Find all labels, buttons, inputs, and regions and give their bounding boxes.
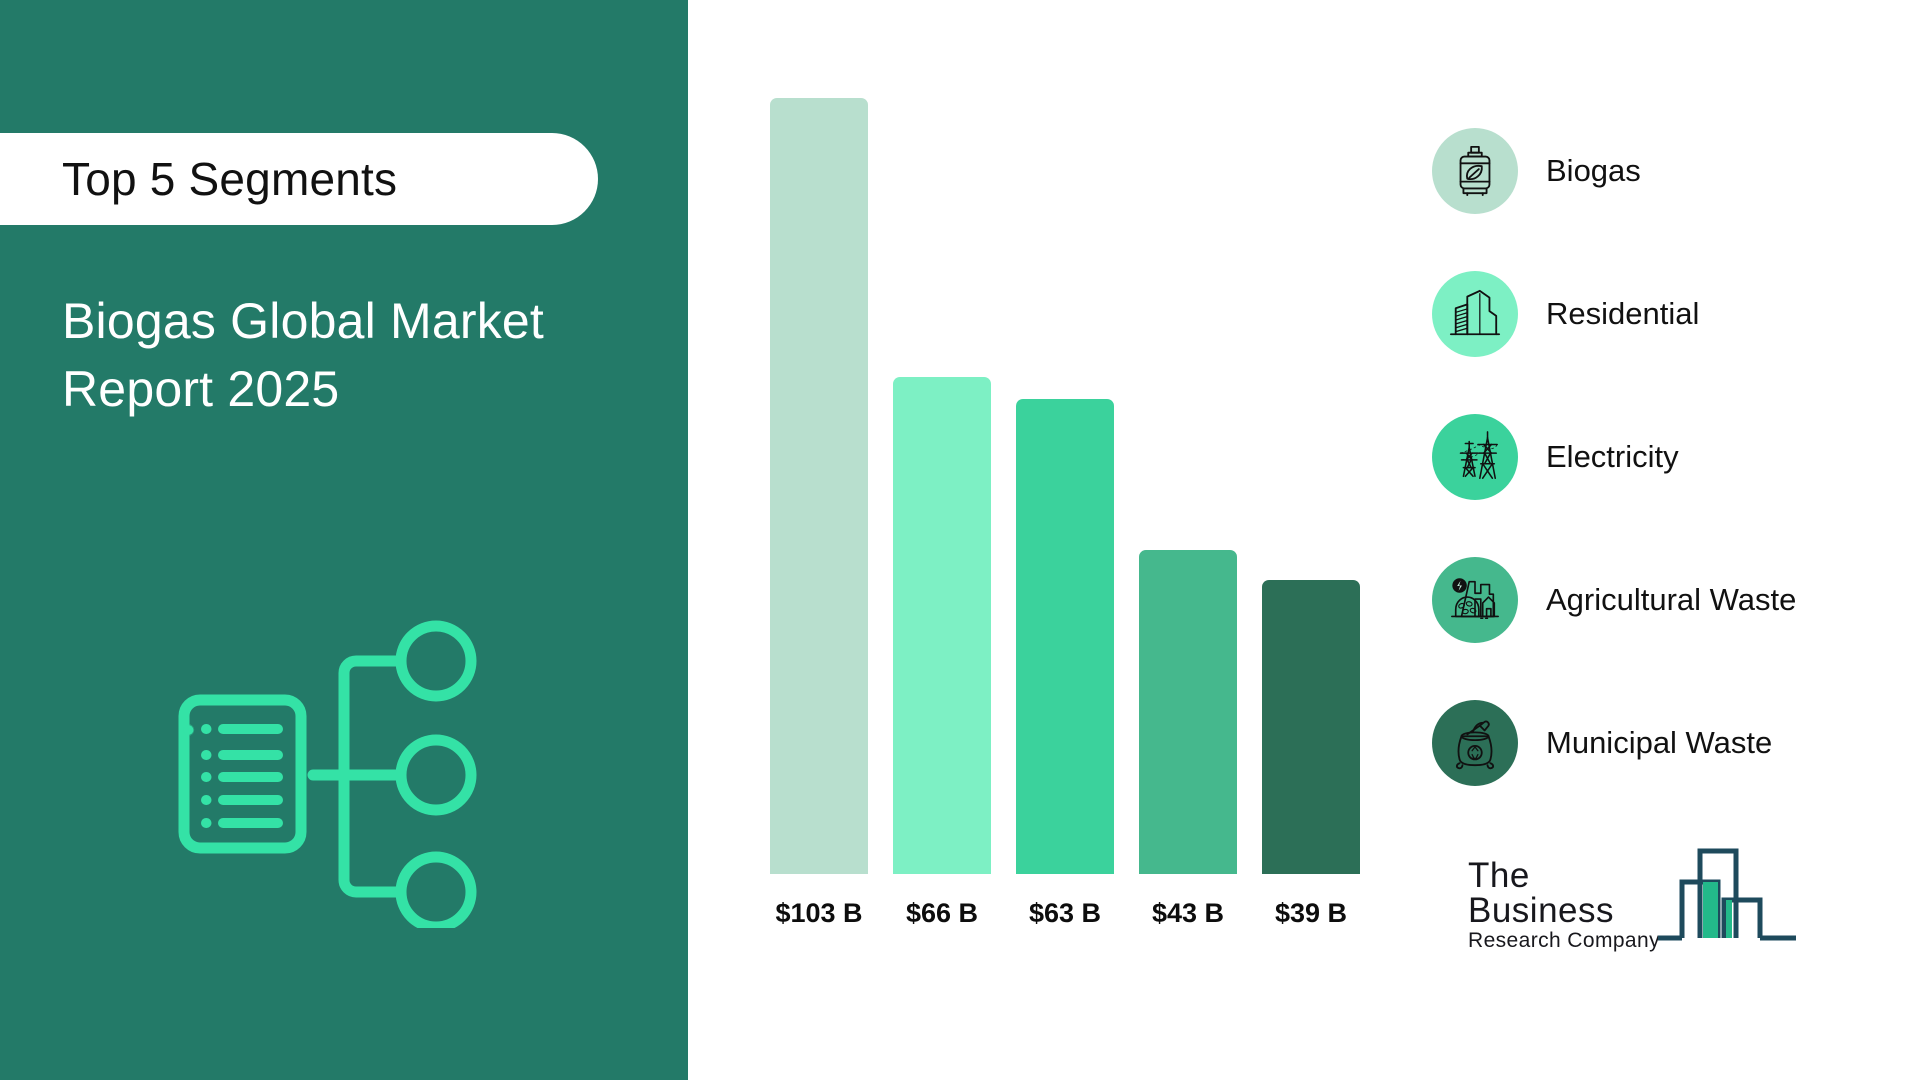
legend-item-label: Agricultural Waste bbox=[1546, 582, 1796, 618]
gas-cylinder-leaf-icon bbox=[1432, 128, 1518, 214]
bar-value-label: $103 B bbox=[758, 898, 880, 929]
bar-value-label: $39 B bbox=[1250, 898, 1372, 929]
legend-item-label: Biogas bbox=[1546, 153, 1641, 189]
legend-item-biogas: Biogas bbox=[1432, 128, 1892, 214]
bar-value-labels: $103 B$66 B$63 B$43 B$39 B bbox=[770, 898, 1410, 944]
legend-item-residential: Residential bbox=[1432, 271, 1892, 357]
bar-agricultural-waste bbox=[1139, 550, 1237, 874]
top-segments-badge: Top 5 Segments bbox=[0, 133, 598, 225]
badge-label: Top 5 Segments bbox=[62, 152, 397, 206]
legend-item-municipal-waste: Municipal Waste bbox=[1432, 700, 1892, 786]
biomass-plant-icon bbox=[1432, 557, 1518, 643]
legend-item-label: Electricity bbox=[1546, 439, 1679, 475]
legend-item-electricity: Electricity bbox=[1432, 414, 1892, 500]
waste-sack-recycle-icon bbox=[1432, 700, 1518, 786]
left-panel: Top 5 Segments Biogas Global Market Repo… bbox=[0, 0, 688, 1080]
buildings-icon bbox=[1432, 271, 1518, 357]
legend-item-label: Municipal Waste bbox=[1546, 725, 1772, 761]
bar-electricity bbox=[1016, 399, 1114, 874]
brand-name-line-1: The Business bbox=[1468, 858, 1673, 928]
brand-logo: The Business Research Company bbox=[1468, 838, 1798, 944]
bar-value-label: $66 B bbox=[881, 898, 1003, 929]
power-pylons-icon bbox=[1432, 414, 1518, 500]
brand-logo-bars-icon bbox=[1656, 838, 1798, 944]
chart-legend: BiogasResidentialElectricityAgricultural… bbox=[1432, 128, 1892, 843]
bar-value-label: $63 B bbox=[1004, 898, 1126, 929]
bar-value-label: $43 B bbox=[1127, 898, 1249, 929]
bar-residential bbox=[893, 377, 991, 874]
page-title: Biogas Global Market Report 2025 bbox=[62, 288, 662, 423]
legend-item-label: Residential bbox=[1546, 296, 1699, 332]
brand-logo-text: The Business Research Company bbox=[1468, 858, 1673, 954]
segmentation-branch-icon bbox=[168, 608, 498, 928]
brand-name-line-2: Research Company bbox=[1468, 928, 1673, 954]
legend-item-agricultural-waste: Agricultural Waste bbox=[1432, 557, 1892, 643]
bar-municipal-waste bbox=[1262, 580, 1360, 874]
bar-biogas bbox=[770, 98, 868, 874]
bars-container bbox=[770, 0, 1410, 874]
